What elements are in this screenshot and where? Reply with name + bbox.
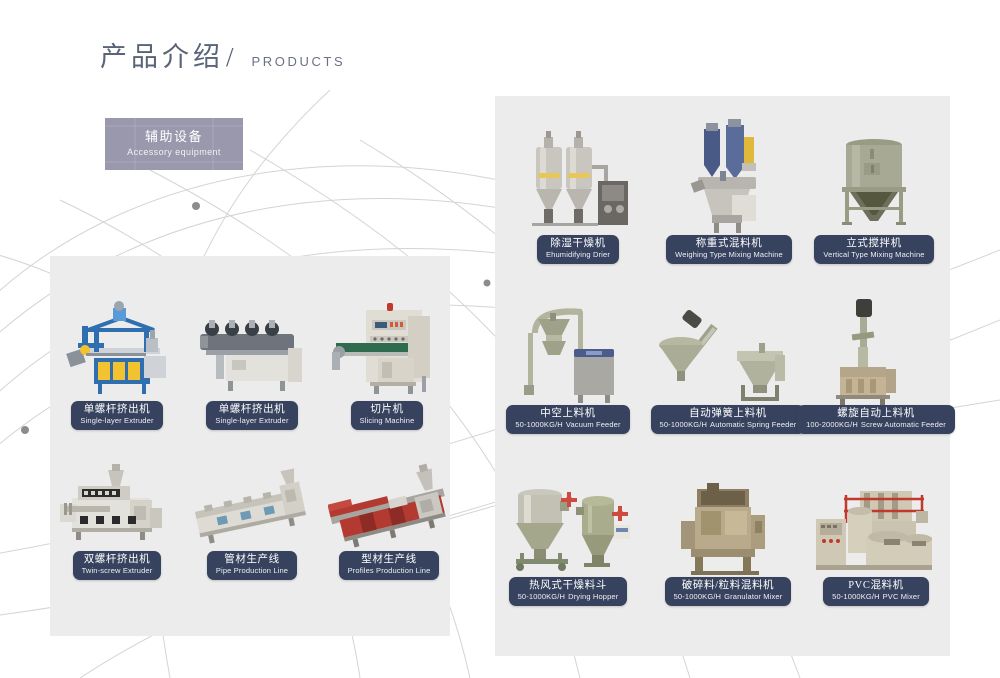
product-image-vertical-type-mixer (812, 121, 936, 235)
label-cn: 破碎料/粒料混料机 (674, 580, 783, 592)
product-image-dehumidifying-drier (518, 125, 638, 235)
product-card-single-layer-extruder-1[interactable]: 单螺杆挤出机 Single-layer Extruder (58, 300, 176, 430)
product-label-slicing-machine: 切片机 Slicing Machine (351, 401, 424, 430)
label-en: Profiles Production Line (348, 567, 431, 576)
label-en: 50-1000KG/HGranulator Mixer (674, 593, 783, 602)
accessory-equipment-tab[interactable]: 辅助设备 Accessory equipment (105, 118, 243, 170)
product-card-single-layer-extruder-2[interactable]: 单螺杆挤出机 Single-layer Extruder (192, 300, 312, 430)
product-card-pvc-mixer[interactable]: PVC混料机 50-1000KG/HPVC Mixer (800, 480, 952, 606)
product-label-weighing-type-mixer: 称重式混料机 Weighing Type Mixing Machine (666, 235, 792, 264)
accessory-tab-label-cn: 辅助设备 (145, 130, 203, 145)
product-label-granulator-mixer: 破碎料/粒料混料机 50-1000KG/HGranulator Mixer (665, 577, 792, 606)
product-image-slicing-machine (330, 296, 444, 401)
product-label-pipe-production-line: 管材生产线 Pipe Production Line (207, 551, 297, 580)
product-card-automatic-spring-feeder[interactable]: 自动弹簧上料机 50-1000KG/HAutomatic Spring Feed… (655, 292, 801, 434)
label-cn: 双螺杆挤出机 (82, 554, 153, 566)
product-label-vertical-type-mixer: 立式搅拌机 Vertical Type Mixing Machine (814, 235, 933, 264)
product-label-vacuum-feeder: 中空上料机 50-1000KG/HVacuum Feeder (506, 405, 629, 434)
product-image-twin-screw-extruder (58, 456, 176, 551)
product-card-profiles-production-line[interactable]: 型材生产线 Profiles Production Line (328, 455, 450, 580)
product-image-single-layer-extruder-2 (192, 296, 312, 401)
label-en: Single-layer Extruder (80, 417, 153, 426)
label-en: Slicing Machine (360, 417, 415, 426)
label-en: 100-2000KG/HScrew Automatic Feeder (806, 421, 946, 430)
product-card-drying-hopper[interactable]: 热风式干燥料斗 50-1000KG/HDrying Hopper (500, 480, 636, 606)
product-image-pvc-mixer (800, 481, 952, 577)
product-image-pipe-production-line (192, 456, 312, 551)
product-label-drying-hopper: 热风式干燥料斗 50-1000KG/HDrying Hopper (509, 577, 628, 606)
product-label-pvc-mixer: PVC混料机 50-1000KG/HPVC Mixer (823, 577, 929, 606)
label-cn: 热风式干燥料斗 (518, 580, 619, 592)
label-en: 50-1000KG/HAutomatic Spring Feeder (660, 421, 797, 430)
product-card-twin-screw-extruder[interactable]: 双螺杆挤出机 Twin-screw Extruder (58, 455, 176, 580)
label-en: Pipe Production Line (216, 567, 288, 576)
product-image-screw-automatic-feeder (800, 293, 952, 405)
product-image-drying-hopper (500, 481, 636, 577)
label-cn: 管材生产线 (216, 554, 288, 566)
product-label-dehumidifying-drier: 除湿干燥机 Ehumidifying Drier (537, 235, 619, 264)
product-label-twin-screw-extruder: 双螺杆挤出机 Twin-screw Extruder (73, 551, 162, 580)
product-image-profiles-production-line (328, 456, 450, 551)
product-image-granulator-mixer (655, 481, 801, 577)
label-en: Ehumidifying Drier (546, 251, 610, 260)
label-cn: 中空上料机 (515, 408, 620, 420)
label-en: Weighing Type Mixing Machine (675, 251, 783, 260)
page-title-cn: 产品介绍 (100, 44, 224, 71)
product-card-slicing-machine[interactable]: 切片机 Slicing Machine (330, 300, 444, 430)
product-image-vacuum-feeder (500, 293, 636, 405)
product-label-automatic-spring-feeder: 自动弹簧上料机 50-1000KG/HAutomatic Spring Feed… (651, 405, 806, 434)
product-card-weighing-type-mixer[interactable]: 称重式混料机 Weighing Type Mixing Machine (668, 112, 790, 264)
label-cn: 单螺杆挤出机 (80, 404, 153, 416)
product-card-dehumidifying-drier[interactable]: 除湿干燥机 Ehumidifying Drier (518, 122, 638, 264)
product-label-profiles-production-line: 型材生产线 Profiles Production Line (339, 551, 440, 580)
product-card-vacuum-feeder[interactable]: 中空上料机 50-1000KG/HVacuum Feeder (500, 292, 636, 434)
label-en: 50-1000KG/HPVC Mixer (832, 593, 920, 602)
label-en: 50-1000KG/HDrying Hopper (518, 593, 619, 602)
accessory-tab-label-en: Accessory equipment (127, 148, 221, 158)
label-cn: 立式搅拌机 (823, 238, 924, 250)
label-cn: 切片机 (360, 404, 415, 416)
product-card-screw-automatic-feeder[interactable]: 螺旋自动上料机 100-2000KG/HScrew Automatic Feed… (800, 292, 952, 434)
product-image-automatic-spring-feeder (655, 293, 801, 405)
label-cn: 螺旋自动上料机 (806, 408, 946, 420)
label-cn: 型材生产线 (348, 554, 431, 566)
label-en: 50-1000KG/HVacuum Feeder (515, 421, 620, 430)
product-card-pipe-production-line[interactable]: 管材生产线 Pipe Production Line (192, 455, 312, 580)
page-title-en: PRODUCTS (252, 54, 346, 69)
product-label-single-layer-extruder-1: 单螺杆挤出机 Single-layer Extruder (71, 401, 162, 430)
label-cn: 称重式混料机 (675, 238, 783, 250)
label-cn: PVC混料机 (832, 580, 920, 592)
label-cn: 除湿干燥机 (546, 238, 610, 250)
product-image-weighing-type-mixer (668, 115, 790, 235)
label-cn: 自动弹簧上料机 (660, 408, 797, 420)
product-image-single-layer-extruder-1 (58, 296, 176, 401)
product-card-vertical-type-mixer[interactable]: 立式搅拌机 Vertical Type Mixing Machine (812, 118, 936, 264)
product-label-screw-automatic-feeder: 螺旋自动上料机 100-2000KG/HScrew Automatic Feed… (797, 405, 955, 434)
label-en: Twin-screw Extruder (82, 567, 153, 576)
label-en: Vertical Type Mixing Machine (823, 251, 924, 260)
page-title: 产品介绍 / PRODUCTS (100, 44, 345, 71)
page-title-separator: / (226, 44, 234, 71)
label-en: Single-layer Extruder (215, 417, 288, 426)
label-cn: 单螺杆挤出机 (215, 404, 288, 416)
product-catalog-page: 产品介绍 / PRODUCTS 辅助设备 Accessory equipment (0, 0, 1000, 678)
product-card-granulator-mixer[interactable]: 破碎料/粒料混料机 50-1000KG/HGranulator Mixer (655, 480, 801, 606)
product-label-single-layer-extruder-2: 单螺杆挤出机 Single-layer Extruder (206, 401, 297, 430)
